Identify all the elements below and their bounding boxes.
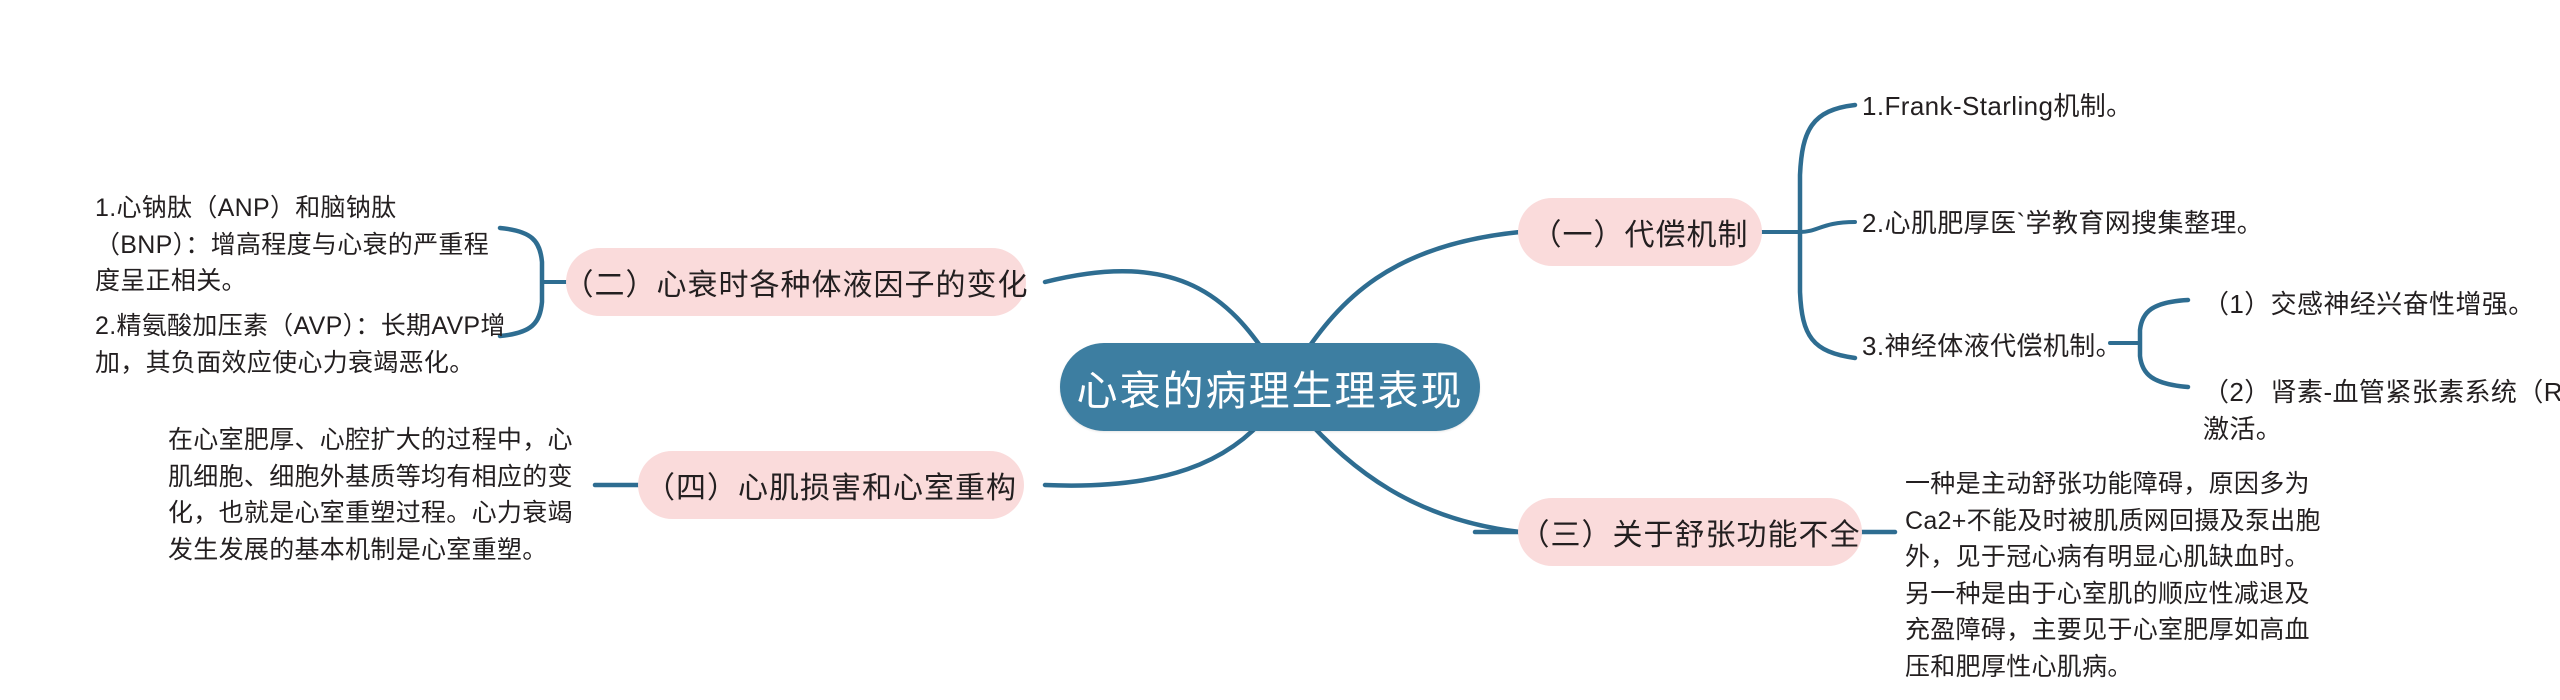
root-node[interactable]: 心衰的病理生理表现 bbox=[1060, 343, 1480, 431]
paragraph-three-child-1[interactable]: 一种是主动舒张功能障碍，原因多为Ca2+不能及时被肌质网回摄及泵出胞外，见于冠心… bbox=[1905, 466, 2335, 685]
edge-branch-one-child-2 bbox=[1800, 222, 1855, 232]
leaf-one-child-3[interactable]: 3.神经体液代偿机制。 bbox=[1862, 328, 2142, 365]
branch-node-four-label: （四）心肌损害和心室重构 bbox=[645, 463, 1017, 507]
leaf-one-child-3-sub-1-label: （1）交感神经兴奋性增强。 bbox=[2203, 289, 2535, 319]
branch-node-three-label: （三）关于舒张功能不全 bbox=[1520, 510, 1861, 554]
leaf-one-child-2-label: 2.心肌肥厚医`学教育网搜集整理。 bbox=[1862, 208, 2263, 238]
leaf-one-child-1-label: 1.Frank-Starling机制。 bbox=[1862, 91, 2133, 121]
edge-branch-one-bracket bbox=[1800, 105, 1855, 358]
paragraph-three-child-1-text: 一种是主动舒张功能障碍，原因多为Ca2+不能及时被肌质网回摄及泵出胞外，见于冠心… bbox=[1905, 470, 2321, 681]
branch-node-one[interactable]: （一）代偿机制 bbox=[1518, 198, 1762, 266]
paragraph-two-child-1-text: 1.心钠肽（ANP）和脑钠肽（BNP）：增高程度与心衰的严重程度呈正相关。 bbox=[95, 194, 489, 295]
root-node-label: 心衰的病理生理表现 bbox=[1077, 357, 1464, 417]
branch-node-two-label: （二）心衰时各种体液因子的变化 bbox=[564, 260, 1029, 304]
paragraph-two-child-2[interactable]: 2.精氨酸加压素（AVP）：长期AVP增加，其负面效应使心力衰竭恶化。 bbox=[95, 308, 510, 381]
leaf-one-child-2[interactable]: 2.心肌肥厚医`学教育网搜集整理。 bbox=[1862, 205, 2482, 242]
paragraph-four-child-1[interactable]: 在心室肥厚、心腔扩大的过程中，心肌细胞、细胞外基质等均有相应的变化，也就是心室重… bbox=[168, 422, 588, 568]
leaf-one-child-3-sub-2[interactable]: （2）肾素-血管紧张素系统（RAS）激活。 bbox=[2203, 374, 2560, 448]
branch-node-three[interactable]: （三）关于舒张功能不全 bbox=[1518, 498, 1862, 566]
leaf-one-child-3-sub-2-label: （2）肾素-血管紧张素系统（RAS）激活。 bbox=[2203, 377, 2560, 444]
paragraph-two-child-1[interactable]: 1.心钠肽（ANP）和脑钠肽（BNP）：增高程度与心衰的严重程度呈正相关。 bbox=[95, 190, 510, 300]
leaf-one-child-3-sub-1[interactable]: （1）交感神经兴奋性增强。 bbox=[2203, 286, 2560, 323]
edge-root-to-branch-one bbox=[1300, 232, 1520, 360]
leaf-one-child-3-label: 3.神经体液代偿机制。 bbox=[1862, 331, 2122, 361]
branch-node-two[interactable]: （二）心衰时各种体液因子的变化 bbox=[566, 248, 1026, 316]
branch-node-one-label: （一）代偿机制 bbox=[1532, 210, 1749, 254]
paragraph-two-child-2-text: 2.精氨酸加压素（AVP）：长期AVP增加，其负面效应使心力衰竭恶化。 bbox=[95, 312, 506, 377]
branch-node-four[interactable]: （四）心肌损害和心室重构 bbox=[638, 451, 1024, 519]
mindmap-canvas: 心衰的病理生理表现 （一）代偿机制 1.Frank-Starling机制。 2.… bbox=[0, 0, 2560, 700]
paragraph-four-child-1-text: 在心室肥厚、心腔扩大的过程中，心肌细胞、细胞外基质等均有相应的变化，也就是心室重… bbox=[168, 426, 573, 564]
edge-child3-bracket bbox=[2140, 300, 2188, 387]
leaf-one-child-1[interactable]: 1.Frank-Starling机制。 bbox=[1862, 88, 2382, 125]
